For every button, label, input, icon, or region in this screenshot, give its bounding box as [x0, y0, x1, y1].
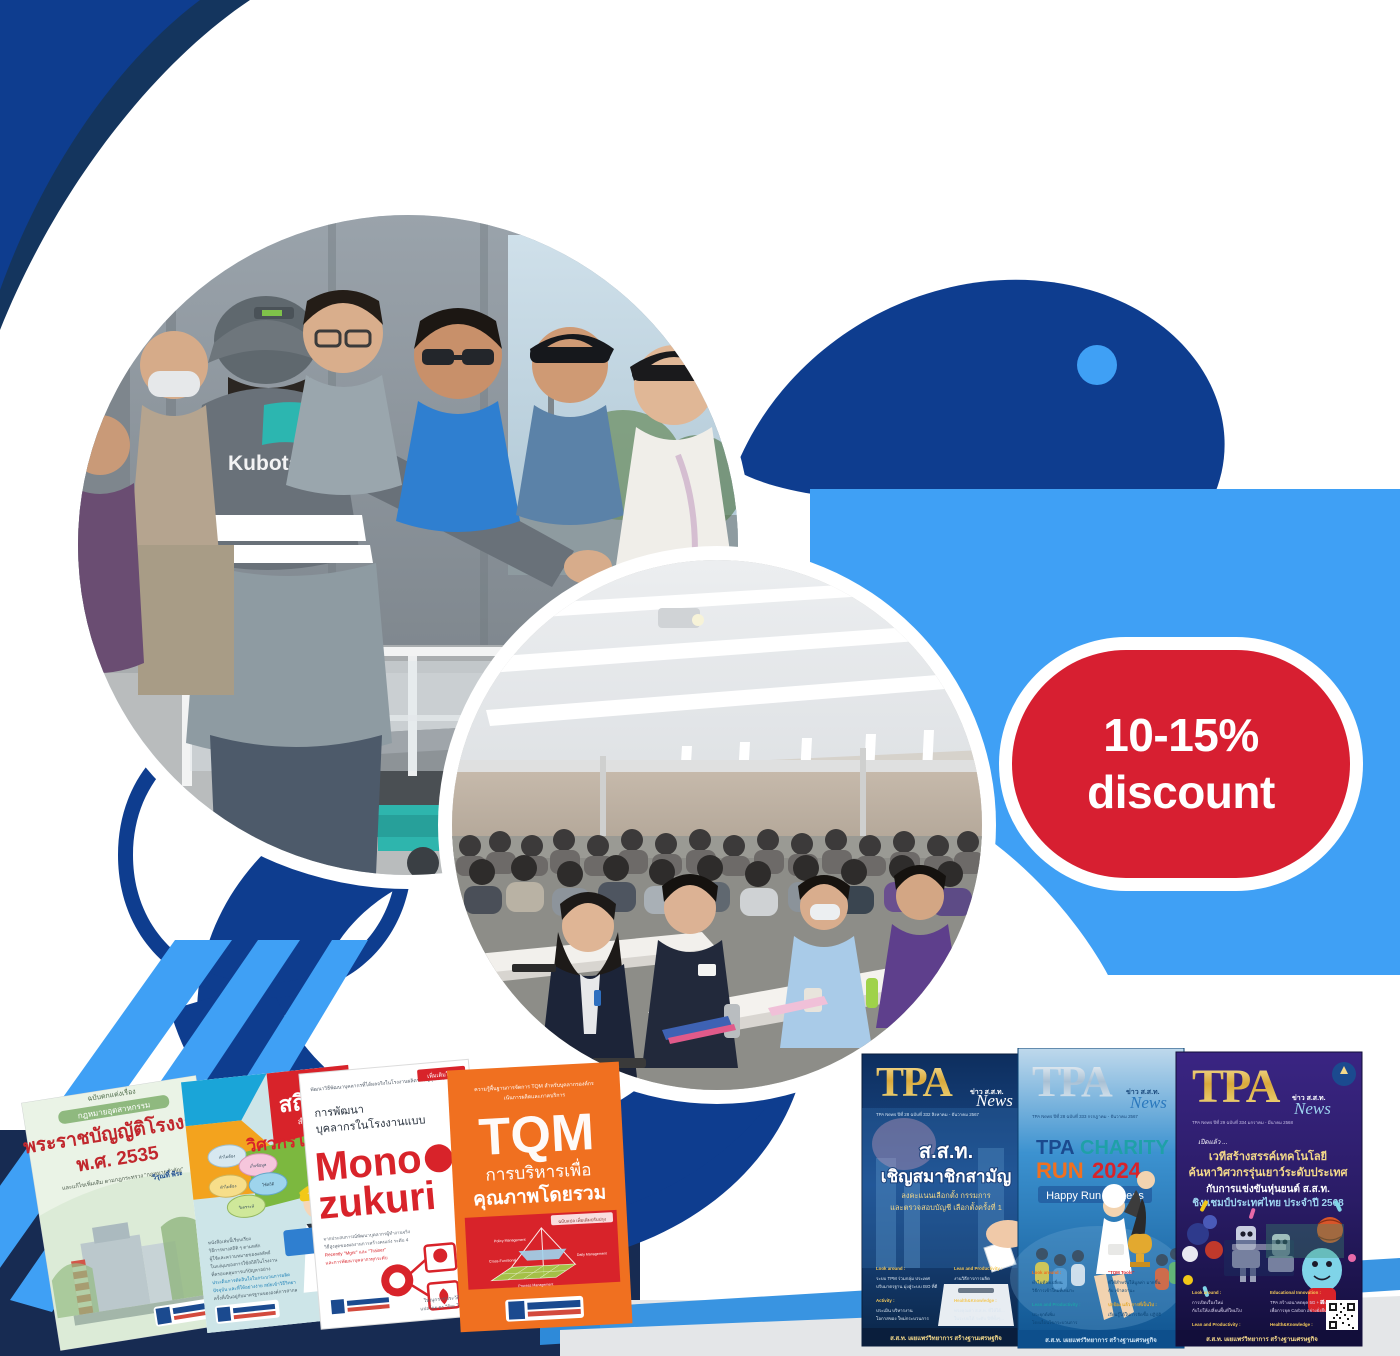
svg-text:Educational Innovation :: Educational Innovation : [1270, 1290, 1322, 1295]
magazine-covers-group: TPA ข่าว ส.ส.ท. News TPA News ปีที่ 28 ฉ… [858, 1048, 1378, 1354]
svg-text:2024: 2024 [1092, 1158, 1142, 1183]
svg-text:Look around :: Look around : [876, 1266, 906, 1271]
svg-text:TPA News ปีที่ 29 ฉบับที่ 334: TPA News ปีที่ 29 ฉบับที่ 334 มกราคม - ม… [1192, 1119, 1293, 1125]
svg-text:ชิงแชมป์ประเทศไทย ประจำปี 2568: ชิงแชมป์ประเทศไทย ประจำปี 2568 [1192, 1196, 1344, 1209]
photo-seminar-room [452, 560, 982, 1090]
magazine-cover-charity-run: TPA ข่าว ส.ส.ท. News TPA News ปีที่ 28 ฉ… [1010, 1048, 1186, 1348]
svg-text:Lean and Productivity :: Lean and Productivity : [1192, 1322, 1241, 1327]
svg-text:โดยเงื่อนไขกระบวนการ: โดยเงื่อนไขกระบวนการ [1032, 1319, 1078, 1325]
svg-text:กับ เข้าสถานะ: กับ เข้าสถานะ [1108, 1288, 1135, 1293]
svg-text:โอกาสของ ใหม่กระบวนการ: โอกาสของ ใหม่กระบวนการ [876, 1315, 929, 1321]
svg-text:News: News [1129, 1093, 1167, 1112]
svg-text:TQM: TQM [477, 1103, 595, 1167]
discount-line-2: discount [1087, 764, 1275, 821]
svg-text:Lean and Productivity :: Lean and Productivity : [1032, 1302, 1081, 1307]
svg-text:ปรับมาตรฐาน มุ่งสู่ระบบ ISO ที: ปรับมาตรฐาน มุ่งสู่ระบบ ISO ที่ดี [876, 1283, 938, 1290]
svg-text:เชิญสมาชิกสามัญ: เชิญสมาชิกสามัญ [881, 1167, 1011, 1187]
svg-text:ส.ส.ท.: ส.ส.ท. [919, 1141, 973, 1163]
svg-text:และตรวจสอบบัญชี เลือกตั้งครั้ง: และตรวจสอบบัญชี เลือกตั้งครั้งที่ 1 [890, 1202, 1002, 1212]
svg-text:Health&Knowledge :: Health&Knowledge : [1270, 1322, 1313, 1327]
svg-text:ทรงคุณค่า ส.ส.ท. ที่ให้ได้...: ทรงคุณค่า ส.ส.ท. ที่ให้ได้... [954, 1307, 1005, 1314]
svg-text:TPA: TPA [1036, 1137, 1075, 1159]
svg-text:ที่ใช้สำหรับให้มูลค่า มากขึ้น: ที่ใช้สำหรับให้มูลค่า มากขึ้น [1108, 1279, 1161, 1286]
magazine-cover-membership: TPA ข่าว ส.ส.ท. News TPA News ปีที่ 28 ฉ… [862, 1054, 1030, 1346]
svg-text:ค้นหาวิศวกรรุ่นเยาว์ระดับประเท: ค้นหาวิศวกรรุ่นเยาว์ระดับประเทศ [1189, 1166, 1349, 1180]
svg-text:กับไปให้เปลี่ยนพื้นที่ใหม่ไป: กับไปให้เปลี่ยนพื้นที่ใหม่ไป [1192, 1307, 1242, 1313]
svg-text:ส.ส.ท. เผยแพร่วิทยาการ สร้างฐา: ส.ส.ท. เผยแพร่วิทยาการ สร้างฐานเศรษฐกิจ [1045, 1336, 1157, 1344]
svg-text:Activity :: Activity : [876, 1298, 895, 1303]
svg-text:TPA: TPA [1192, 1060, 1281, 1113]
svg-text:กับการแข่งขันหุ่นยนต์ ส.ส.ท.: กับการแข่งขันหุ่นยนต์ ส.ส.ท. [1206, 1183, 1330, 1195]
svg-text:การเปิดเรื่องใหม่: การเปิดเรื่องใหม่ [1192, 1299, 1223, 1305]
svg-text:เรียนรู้ได้ในการจัดซื้อ ปฏิบัต: เรียนรู้ได้ในการจัดซื้อ ปฏิบัติ [1108, 1311, 1161, 1318]
svg-text:ประยุกต์เพิ่ม: ประยุกต์เพิ่ม [1032, 1311, 1055, 1318]
svg-text:ส.ส.ท. เผยแพร่วิทยาการ สร้างฐา: ส.ส.ท. เผยแพร่วิทยาการ สร้างฐานเศรษฐกิจ [890, 1334, 1002, 1342]
svg-text:เวทีสร้างสรรค์เทคโนโลยี: เวทีสร้างสรรค์เทคโนโลยี [1209, 1149, 1327, 1163]
svg-text:News: News [975, 1091, 1013, 1110]
svg-text:ประเมิน บริหารงาน: ประเมิน บริหารงาน [876, 1308, 913, 1313]
discount-line-1: 10-15% [1103, 707, 1259, 764]
svg-text:Happy Run for Legs: Happy Run for Legs [1046, 1190, 1144, 1202]
svg-text:TPA: TPA [1032, 1057, 1113, 1106]
svg-text:ปกป้อง แล้ว การที่เป็นไป :: ปกป้อง แล้ว การที่เป็นไป : [1108, 1300, 1157, 1307]
blue-dot-accent [1077, 345, 1117, 385]
magazine-cover-robotics: TPA ข่าว ส.ส.ท. News TPA News ปีที่ 29 ฉ… [1176, 1052, 1362, 1346]
qr-code [1326, 1300, 1358, 1332]
svg-text:งานวิธีการการผลิต: งานวิธีการการผลิต [954, 1276, 990, 1281]
svg-text:TPA: TPA [876, 1060, 954, 1106]
svg-text:เปิดแล้ว ...: เปิดแล้ว ... [1198, 1138, 1228, 1146]
svg-text:ลงคะแนนเลือกตั้ง กรรมการ: ลงคะแนนเลือกตั้ง กรรมการ [901, 1190, 991, 1200]
svg-text:Look around :: Look around : [1032, 1270, 1062, 1275]
svg-text:ส.ส.ท. เผยแพร่วิทยาการ สร้างฐา: ส.ส.ท. เผยแพร่วิทยาการ สร้างฐานเศรษฐกิจ [1206, 1335, 1318, 1343]
discount-badge: 10-15% discount [1012, 650, 1350, 878]
svg-text:Look around :: Look around : [1192, 1290, 1222, 1295]
svg-text:Lean and Productivity :: Lean and Productivity : [954, 1266, 1003, 1271]
svg-text:วิธีการเข้าใหม่ที่เหมาะ: วิธีการเข้าใหม่ที่เหมาะ [1031, 1287, 1074, 1293]
svg-text:Health&Knowledge :: Health&Knowledge : [954, 1298, 997, 1303]
poster-stage: Kubota [0, 0, 1400, 1356]
svg-text:News: News [1293, 1099, 1331, 1118]
svg-text:TPA News ปีที่ 28 ฉบับที่ 332: TPA News ปีที่ 28 ฉบับที่ 332 สิงหาคม - … [876, 1111, 980, 1117]
svg-text:"TQM Tools": "TQM Tools" [1108, 1270, 1135, 1275]
svg-text:ทำไมต้องเปลี่ยน: ทำไมต้องเปลี่ยน [1032, 1279, 1063, 1285]
svg-text:RUN: RUN [1036, 1158, 1084, 1183]
svg-text:CHARITY: CHARITY [1080, 1137, 1170, 1159]
book-cover-tqm: ความรู้พื้นฐานการจัดการ TQM สำหรับบุคลาก… [447, 1062, 632, 1333]
svg-text:TPA News ปีที่ 28 ฉบับที่ 333: TPA News ปีที่ 28 ฉบับที่ 333 กรกฎาคม - … [1032, 1113, 1138, 1119]
figure-visitor-3 [516, 327, 624, 525]
svg-text:ในระบบได้ ระดับ ปีที่ทั้งๆ...: ในระบบได้ ระดับ ปีที่ทั้งๆ... [954, 1315, 1004, 1321]
book-covers-group: กฎหมายอุตสาหกรรม ฉบับตกแต่งเรื่อง พระราช… [18, 1052, 638, 1352]
